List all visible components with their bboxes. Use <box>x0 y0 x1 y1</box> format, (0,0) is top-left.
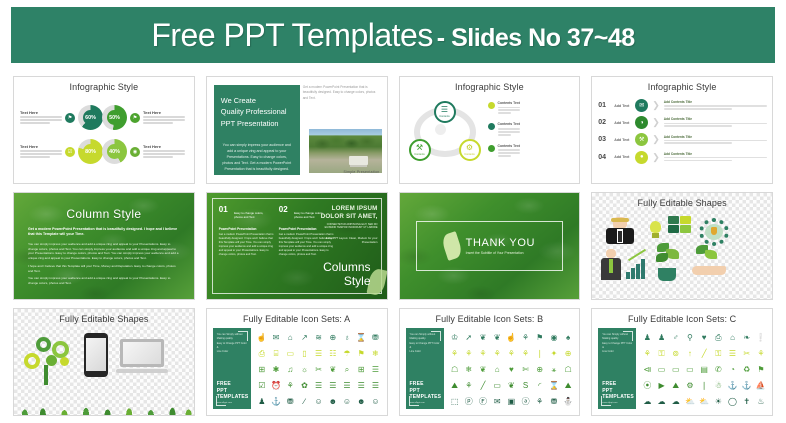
icon-cell: ☰ <box>329 382 336 390</box>
icon-cell: ❄ <box>465 366 472 374</box>
slide-10-title: Fully Editable Icon Sets: A <box>207 314 387 324</box>
icon-cell: ✉ <box>494 398 501 406</box>
icon-cell: ≋ <box>315 334 322 342</box>
icon-cell: ☼ <box>301 366 308 374</box>
icon-cell: ☃ <box>715 382 722 390</box>
grass-icon <box>14 403 194 415</box>
donut-group-1: Text Here ⚑ 60% <box>20 105 103 130</box>
icon-cell: ↗ <box>301 334 308 342</box>
people-circle-trophy-icon <box>696 215 732 249</box>
icon-cell: ♨ <box>757 398 764 406</box>
donut-chart-3: 80% <box>78 139 103 164</box>
icon-cell: ⚘ <box>508 350 515 358</box>
slide-thumbnail-9[interactable]: Fully Editable Shapes <box>13 308 195 416</box>
icon-cell: ⛰ <box>565 382 572 390</box>
icon-cell: ⊕ <box>565 350 572 358</box>
icon-cell: ✄ <box>522 366 529 374</box>
slide-thumbnail-1[interactable]: Infographic Style Text Here ⚑ 60% 50% ⚑ <box>13 76 195 184</box>
businessman-chart-icon <box>598 249 628 283</box>
donut-label-1: Text Here <box>20 110 62 126</box>
icon-cell: ✉ <box>273 334 280 342</box>
icon-cell: ⚹ <box>552 366 557 374</box>
icon-cell: ⛅ <box>685 398 695 406</box>
corner-decoration <box>238 331 248 341</box>
slide-2-side-body: Get a modern PowerPoint Presentation tha… <box>303 85 382 101</box>
icon-cell: ☻ <box>329 398 337 406</box>
slide-3-list: Contents Text Contents Text Contents Tex… <box>488 101 575 165</box>
tools-icon: ⚒ <box>416 144 423 152</box>
smartphone-icon <box>84 333 108 377</box>
icon-cell: ⛃ <box>372 334 379 342</box>
icon-cell: ☺ <box>343 398 351 406</box>
icon-cell: ⚘ <box>287 382 294 390</box>
icon-cell: ⛅ <box>699 398 709 406</box>
icon-cell: ❕ <box>756 334 766 342</box>
icon-cell: ◯ <box>728 398 737 406</box>
icon-cell: ✂ <box>743 350 750 358</box>
editable-shapes-group <box>14 327 194 415</box>
icon-cell: ▭ <box>658 366 666 374</box>
icon-cell: ⚙ <box>686 382 693 390</box>
corner-decoration <box>601 396 611 406</box>
donut-mini-icon-3: ☑ <box>65 147 75 157</box>
icon-cell: ◜ <box>538 382 541 390</box>
icon-cell: ♟ <box>644 334 651 342</box>
icon-cell: ❦ <box>508 382 515 390</box>
icon-cell: ⌂ <box>288 334 293 342</box>
icon-cell: ⊞ <box>358 366 365 374</box>
bar-chart-icon <box>626 253 650 279</box>
list-item: Contents Text <box>488 122 575 136</box>
donut-group-2: 50% ⚑ Text Here <box>102 105 185 130</box>
icon-cell: ⚑ <box>358 350 365 358</box>
slide-6-heading-block: LOREM IPSUM DOLOR SIT AMET, CONSECTETUR … <box>316 205 378 244</box>
icon-cell: ✆ <box>715 366 722 374</box>
donut-chart-1: 60% <box>78 105 103 130</box>
page-header-banner: Free PPT Templates - Slides No 37~48 <box>11 7 775 63</box>
icon-cell: ╱ <box>702 350 707 358</box>
icon-cell: ▭ <box>286 350 294 358</box>
slide-2-panel-body: You can simply impress your audience and… <box>221 143 293 173</box>
icon-cell: ⛰ <box>672 382 679 390</box>
icon-cell: ❦ <box>480 366 487 374</box>
icon-cell: ❧ <box>743 334 750 342</box>
icon-cell: ⚘ <box>451 350 458 358</box>
slide-thumbnail-5[interactable]: Column Style Get a modern PowerPoint Pre… <box>13 192 195 300</box>
half-circle-icon: ◑ <box>635 116 648 129</box>
icon-cell: ❘ <box>536 350 543 358</box>
donut-label-2: Text Here <box>143 110 185 126</box>
corner-decoration <box>216 396 226 406</box>
icon-cell: ♥ <box>509 366 514 374</box>
icon-cell: ⚘ <box>536 398 543 406</box>
slide-4-title: Infographic Style <box>592 82 772 92</box>
icon-cell: ⚲ <box>687 334 693 342</box>
slide-6-big-title: Columns Style <box>323 261 370 289</box>
icon-cell: ▯ <box>302 350 306 358</box>
trio-node-3: ⚙ Contents <box>459 139 481 161</box>
slide-thumbnail-4[interactable]: Infographic Style 01 Add Text ✉ ❯ Add Co… <box>591 76 773 184</box>
icon-cell: ⚑ <box>757 366 764 374</box>
chevron-right-icon: ❯ <box>652 118 660 127</box>
icon-cell: ❄ <box>372 350 379 358</box>
gear-icon: ⚙ <box>466 144 473 152</box>
slide-5-lead: Get a modern PowerPoint Presentation tha… <box>28 227 180 238</box>
list-item: Contents Text <box>488 101 575 115</box>
slide-5-para-2: I hope and I believe that this Template … <box>28 264 180 274</box>
slide-thumbnail-2[interactable]: We Create Quality Professional PPT Prese… <box>206 76 388 184</box>
icon-cell: ⎙ <box>715 334 721 342</box>
park-photo <box>309 129 382 173</box>
icon-cell: ⌸ <box>274 350 279 358</box>
banner-title: Free PPT Templates - Slides No 37~48 <box>151 17 634 54</box>
icon-cell: ⊕ <box>329 334 336 342</box>
table-row: 04 Add Text ● ❯ Add Contents Title <box>598 151 767 164</box>
icon-cell: ⓐ <box>522 398 530 406</box>
icon-cell: ⛃ <box>287 398 294 406</box>
bullet-dot-icon <box>488 145 495 152</box>
icon-cell: ☰ <box>372 382 379 390</box>
corner-decoration <box>623 331 633 341</box>
donut-mini-icon-4: ◉ <box>130 147 140 157</box>
donut-mini-icon-1: ⚑ <box>65 113 75 123</box>
bullet-dot-icon <box>488 123 495 130</box>
icon-cell: ☻ <box>357 398 365 406</box>
icon-cell: ⚓ <box>271 398 281 406</box>
icon-cell: ☰ <box>729 350 736 358</box>
donut-label-4: Text Here <box>143 144 185 160</box>
icon-cell: ◔ <box>730 366 735 374</box>
icon-cell: ❦ <box>494 334 501 342</box>
editable-shapes-group <box>592 211 772 299</box>
icon-cell: ☝ <box>506 334 516 342</box>
icon-cell: ♥ <box>702 334 707 342</box>
slide-thumbnail-11[interactable]: Fully Editable Icon Sets: B You can Simp… <box>399 308 581 416</box>
bullet-dot-icon <box>488 102 495 109</box>
slide-2-heading: We Create Quality Professional PPT Prese… <box>221 95 293 129</box>
icon-cell: ☀ <box>715 398 722 406</box>
icon-cell: ▣ <box>508 398 516 406</box>
icon-cell: S <box>523 382 528 390</box>
icon-cell: ☷ <box>329 350 336 358</box>
banner-title-main: Free PPT Templates <box>151 17 433 53</box>
slide-5-para-3: You can simply impress your audience and… <box>28 276 180 286</box>
icon-cell: ☖ <box>451 366 458 374</box>
icon-cell: ⧏ <box>643 366 651 374</box>
icon-cell: ▤ <box>700 366 708 374</box>
donut-label-3: Text Here <box>20 144 62 160</box>
donut-infographic: Text Here ⚑ 60% 50% ⚑ Text Here <box>14 99 194 177</box>
slide-5-title: Column Style <box>28 207 180 221</box>
slide-thumbnail-7[interactable]: THANK YOU Insert the Subtitle of Your Pr… <box>399 192 581 300</box>
icon-cell: ☺ <box>371 398 379 406</box>
icon-cell: ⚘ <box>479 350 486 358</box>
icon-cell: ⊚ <box>672 350 679 358</box>
book-icon: ☰ <box>441 106 448 114</box>
icon-cell: ⚘ <box>522 334 529 342</box>
icon-cell: ▭ <box>493 382 501 390</box>
icon-cell: ✿ <box>301 382 308 390</box>
icon-set-panel-a: You can Simply without Making quality. E… <box>213 328 251 409</box>
laptop-icon <box>116 339 168 375</box>
slide-thumbnail-12[interactable]: Fully Editable Icon Sets: C You can Simp… <box>591 308 773 416</box>
table-row: 03 Add Text ⚒ ❯ Add Contents Title <box>598 133 767 146</box>
icon-cell: ⌂ <box>495 366 500 374</box>
icon-cell: ⌛ <box>549 382 559 390</box>
donut-chart-4: 40% <box>102 139 127 164</box>
icon-cell: ☰ <box>315 350 322 358</box>
thank-you-headline: THANK YOU <box>466 237 535 249</box>
icon-cell: ♟ <box>658 334 665 342</box>
icon-cell: ☁ <box>672 398 680 406</box>
slide-thumbnail-10[interactable]: Fully Editable Icon Sets: A You can Simp… <box>206 308 388 416</box>
icon-cell: ⚑ <box>536 334 543 342</box>
icon-cell: ♠ <box>566 334 570 342</box>
icon-cell: ⚘ <box>522 350 529 358</box>
icon-cell: ▭ <box>672 366 680 374</box>
icon-cell: ✂ <box>315 366 322 374</box>
icon-cell: ⚿ <box>658 350 664 358</box>
icon-cell: ☝ <box>257 334 267 342</box>
icon-cell: ▭ <box>686 366 694 374</box>
donut-chart-2: 50% <box>102 105 127 130</box>
icon-cell: ✦ <box>551 350 558 358</box>
corner-decoration <box>431 331 441 341</box>
icon-cell: ❦ <box>329 366 336 374</box>
icon-cell: ♁ <box>344 334 350 342</box>
hand-sprout-icon <box>688 245 730 281</box>
icon-grid-a: ☝✉⌂↗≋⊕♁⌛⛃⎙⌸▭▯☰☷☂⚑❄⊞✱♫☼✂❦⌕⊞☰☑⏰⚘✿☰☰☰☰☰♟⚓⛃∕… <box>255 330 383 410</box>
slide-2-right-area: Get a modern PowerPoint Presentation tha… <box>303 85 382 175</box>
column-style-content: Column Style Get a modern PowerPoint Pre… <box>14 193 194 299</box>
icon-cell: ⊕ <box>536 366 543 374</box>
slide-thumbnail-6[interactable]: 01 Easy to change colors, photos and Tex… <box>206 192 388 300</box>
icon-grid-c: ♟♟♂⚲♥⎙⌂❧❕⚘⚿⊚↑╱⚿☰✂⚘⧏▭▭▭▤✆◔♻⚑⦿▶⛰⚙❘☃⚓⚓⛵☁☁☁⛅… <box>640 330 768 410</box>
icon-cell: ⊞ <box>258 366 265 374</box>
icon-cell: ⚘ <box>494 350 501 358</box>
icon-cell: ☖ <box>565 366 572 374</box>
icon-set-panel-c: You can Simply without Making quality. E… <box>598 328 636 409</box>
icon-cell: ☁ <box>643 398 651 406</box>
slide-9-title: Fully Editable Shapes <box>14 314 194 324</box>
icon-grid-b: ♔➚❦❦☝⚘⚑◉♠⚘⚘⚘⚘⚘⚘❘✦⊕☖❄❦⌂♥✄⊕⚹☖⛰⚘╱▭❦S◜⌛⛰⬚ⓟⒻ✉… <box>448 330 576 410</box>
icon-cell: ☰ <box>343 382 350 390</box>
icon-cell: ⚓ <box>742 382 752 390</box>
slide-12-title: Fully Editable Icon Sets: C <box>592 314 772 324</box>
icon-cell: ◉ <box>550 334 557 342</box>
chevron-right-icon: ❯ <box>652 135 660 144</box>
slide-5-para-1: You can simply impress your audience and… <box>28 242 180 261</box>
chevron-right-icon: ❯ <box>652 101 660 110</box>
icon-cell: ☺ <box>315 398 323 406</box>
icon-cell: ⚘ <box>465 382 472 390</box>
thank-you-subtitle: Insert the Subtitle of Your Presentation <box>466 251 535 255</box>
slide-2-green-panel: We Create Quality Professional PPT Prese… <box>214 85 300 175</box>
leaf-icon <box>440 231 463 261</box>
icon-cell: ⏰ <box>271 382 281 390</box>
icon-cell: ▶ <box>658 382 664 390</box>
icon-cell: ♫ <box>287 366 293 374</box>
icon-cell: ⌂ <box>730 334 735 342</box>
tools-icon: ⚒ <box>635 133 648 146</box>
slide-thumbnail-8[interactable]: Fully Editable Shapes <box>591 192 773 300</box>
trio-node-1: ☰ Contents <box>434 101 456 123</box>
icon-cell: ☁ <box>658 398 666 406</box>
slide-11-title: Fully Editable Icon Sets: B <box>400 314 580 324</box>
icon-set-panel-b: You can Simply without Making quality. E… <box>406 328 444 409</box>
slide-6-column-1: 01 Easy to change colors, photos and Tex… <box>219 205 275 257</box>
circle-icon: ● <box>635 151 648 164</box>
icon-cell: ∕ <box>304 398 305 406</box>
icon-cell: ⚿ <box>715 350 721 358</box>
icon-cell: ⛄ <box>563 398 573 406</box>
slide-thumbnail-3[interactable]: Infographic Style ☰ Contents ⚒ Contents … <box>399 76 581 184</box>
icon-cell: ⚘ <box>465 350 472 358</box>
icon-cell: ⚘ <box>644 350 651 358</box>
icon-cell: ╱ <box>481 382 486 390</box>
icon-cell: ☑ <box>258 382 265 390</box>
icon-cell: ⬚ <box>451 398 459 406</box>
donut-group-3: Text Here ☑ 80% <box>20 139 103 164</box>
table-row: 01 Add Text ✉ ❯ Add Contents Title <box>598 99 767 112</box>
donut-group-4: 40% ◉ Text Here <box>102 139 185 164</box>
icon-cell: ⦿ <box>643 382 651 390</box>
list-item: Contents Text <box>488 144 575 158</box>
thank-you-box: THANK YOU Insert the Subtitle of Your Pr… <box>416 221 564 271</box>
icon-cell: ✱ <box>273 366 280 374</box>
icon-cell: ⌕ <box>345 366 349 374</box>
trio-infographic: ☰ Contents ⚒ Contents ⚙ Contents <box>406 101 484 163</box>
icon-cell: ♔ <box>451 334 458 342</box>
businessman-binoculars-icon <box>602 217 638 251</box>
icon-cell: ♂ <box>673 334 679 342</box>
stacked-cards-icon <box>668 216 692 236</box>
icon-cell: ❘ <box>701 382 708 390</box>
icon-cell: ⛰ <box>451 382 458 390</box>
slide-8-title: Fully Editable Shapes <box>592 198 772 208</box>
icon-cell: ⛵ <box>756 382 766 390</box>
icon-cell: ↑ <box>688 350 692 358</box>
icon-cell: ⛃ <box>551 398 558 406</box>
icon-cell: ⚓ <box>728 382 738 390</box>
corner-decoration <box>409 396 419 406</box>
trio-hub <box>435 124 446 135</box>
slide-1-title: Infographic Style <box>14 82 194 92</box>
circle-tree-icon <box>22 335 78 387</box>
slide-3-title: Infographic Style <box>400 82 580 92</box>
icon-cell: ✝ <box>743 398 750 406</box>
table-row: 02 Add Text ◑ ❯ Add Contents Title <box>598 116 767 129</box>
icon-cell: ♻ <box>743 366 750 374</box>
lightbulb-icon <box>646 219 664 241</box>
chevron-right-icon: ❯ <box>652 153 660 162</box>
icon-cell: ⚘ <box>757 350 764 358</box>
icon-cell: ⓟ <box>465 398 473 406</box>
icon-cell: ☰ <box>358 382 365 390</box>
icon-cell: ❦ <box>480 334 487 342</box>
donut-mini-icon-2: ⚑ <box>130 113 140 123</box>
numbered-rows: 01 Add Text ✉ ❯ Add Contents Title 02 Ad… <box>598 99 767 168</box>
icon-cell: ⌛ <box>356 334 366 342</box>
icon-cell: ➚ <box>465 334 472 342</box>
trio-node-2: ⚒ Contents <box>409 139 431 161</box>
slide-thumbnail-grid: Infographic Style Text Here ⚑ 60% 50% ⚑ <box>13 76 773 416</box>
slide-2-photo-caption: Simple Presentation <box>343 170 379 174</box>
icon-cell: ☂ <box>343 350 350 358</box>
icon-cell: Ⓕ <box>479 398 487 406</box>
icon-cell: ⎙ <box>259 350 265 358</box>
banner-title-sub: - Slides No 37~48 <box>437 24 635 52</box>
envelope-icon: ✉ <box>635 99 648 112</box>
icon-cell: ♟ <box>258 398 265 406</box>
icon-cell: ☰ <box>372 366 379 374</box>
icon-cell: ☰ <box>315 382 322 390</box>
potted-plant-icon <box>652 241 682 281</box>
